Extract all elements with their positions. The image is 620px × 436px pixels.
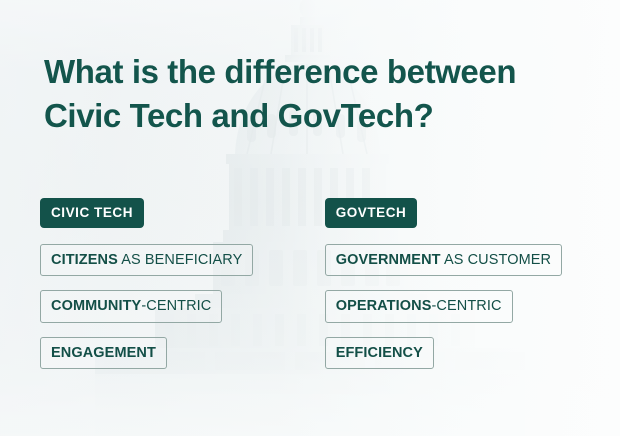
chip-bold-text: EFFICIENCY (336, 345, 423, 361)
column-govtech: GOVTECH GOVERNMENT AS CUSTOMER OPERATION… (312, 198, 620, 369)
infographic-slide: What is the difference between Civic Tec… (0, 0, 620, 436)
chip-bold-text: COMMUNITY (51, 298, 141, 314)
chip-citizens-as-beneficiary: CITIZENS AS BENEFICIARY (40, 244, 253, 277)
chip-engagement: ENGAGEMENT (40, 337, 167, 370)
chip-efficiency: EFFICIENCY (325, 337, 434, 370)
chip-bold-text: GOVERNMENT (336, 252, 441, 268)
page-title-line-2: Civic Tech and GovTech? (44, 94, 584, 138)
chip-government-as-customer: GOVERNMENT AS CUSTOMER (325, 244, 562, 277)
chip-bold-text: CITIZENS (51, 252, 118, 268)
chip-operations-centric: OPERATIONS-CENTRIC (325, 290, 513, 323)
chip-bold-text: OPERATIONS (336, 298, 432, 314)
chip-regular-text: -CENTRIC (141, 298, 211, 314)
page-title: What is the difference between Civic Tec… (44, 50, 584, 138)
chip-regular-text: AS BENEFICIARY (118, 252, 243, 268)
chip-bold-text: ENGAGEMENT (51, 345, 156, 361)
chip-regular-text: AS CUSTOMER (441, 252, 552, 268)
page-title-line-1: What is the difference between (44, 50, 584, 94)
chip-community-centric: COMMUNITY-CENTRIC (40, 290, 222, 323)
chip-regular-text: -CENTRIC (431, 298, 501, 314)
comparison-columns: CIVIC TECH CITIZENS AS BENEFICIARY COMMU… (0, 198, 620, 369)
column-civic-tech: CIVIC TECH CITIZENS AS BENEFICIARY COMMU… (0, 198, 312, 369)
column-header-civic-tech: CIVIC TECH (40, 198, 144, 228)
column-header-govtech: GOVTECH (325, 198, 418, 228)
